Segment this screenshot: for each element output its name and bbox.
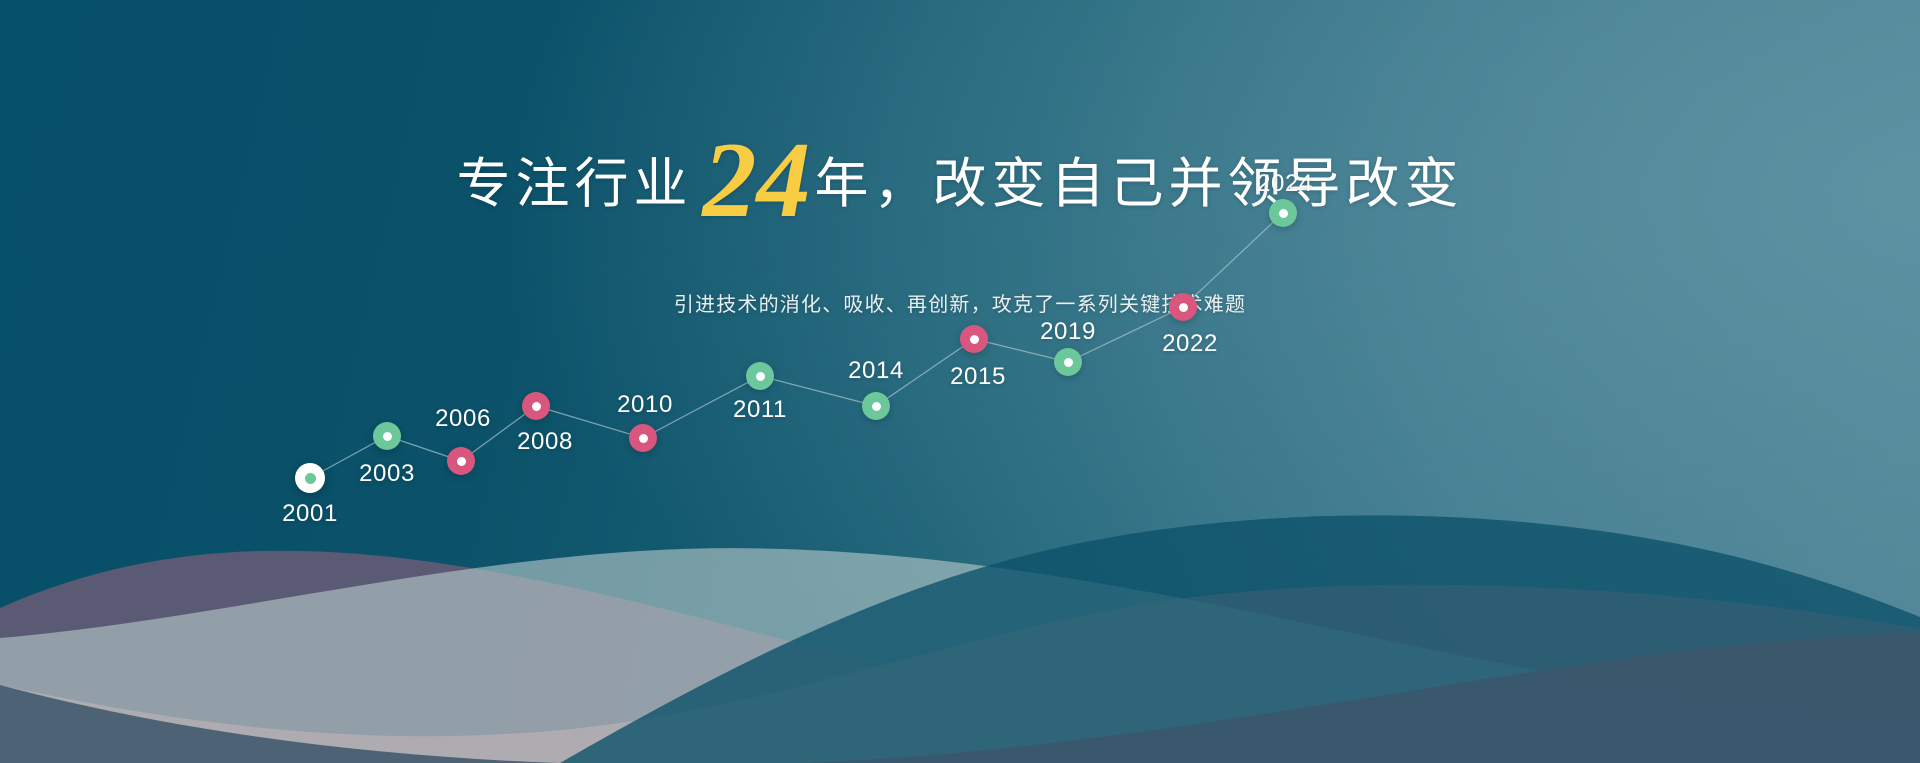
timeline-label-2003[interactable]: 2003 (359, 460, 415, 488)
hero-banner: 专注行业24年，改变自己并领导改变 引进技术的消化、吸收、再创新，攻克了一系列关… (0, 0, 1920, 763)
timeline-label-2001[interactable]: 2001 (282, 500, 338, 528)
timeline-node-2015[interactable] (960, 325, 988, 353)
timeline-label-2010[interactable]: 2010 (617, 391, 673, 419)
timeline-node-2014[interactable] (862, 392, 890, 420)
timeline-node-2019[interactable] (1054, 348, 1082, 376)
milestone-timeline: 2001200320062008201020112014201520192022… (0, 0, 1920, 763)
timeline-node-2001[interactable] (295, 463, 325, 493)
node-center-dot (457, 457, 466, 466)
node-center-dot (383, 432, 392, 441)
connector-line (1183, 213, 1283, 307)
timeline-label-2006[interactable]: 2006 (435, 405, 491, 433)
timeline-node-2010[interactable] (629, 424, 657, 452)
node-center-dot (756, 372, 765, 381)
node-center-dot (872, 402, 881, 411)
node-center-dot (639, 434, 648, 443)
timeline-node-2024[interactable] (1269, 199, 1297, 227)
node-center-dot (1179, 303, 1188, 312)
timeline-node-2006[interactable] (447, 447, 475, 475)
node-center-dot (1279, 209, 1288, 218)
timeline-node-2003[interactable] (373, 422, 401, 450)
timeline-label-2024[interactable]: 2024 (1257, 170, 1313, 198)
timeline-label-2022[interactable]: 2022 (1162, 330, 1218, 358)
timeline-label-2011[interactable]: 2011 (733, 396, 787, 424)
timeline-node-2022[interactable] (1169, 293, 1197, 321)
node-center-dot (305, 473, 316, 484)
timeline-node-2011[interactable] (746, 362, 774, 390)
node-center-dot (970, 335, 979, 344)
node-center-dot (532, 402, 541, 411)
node-center-dot (1064, 358, 1073, 367)
timeline-label-2014[interactable]: 2014 (848, 357, 904, 385)
timeline-label-2008[interactable]: 2008 (517, 428, 573, 456)
timeline-node-2008[interactable] (522, 392, 550, 420)
timeline-label-2015[interactable]: 2015 (950, 363, 1006, 391)
timeline-label-2019[interactable]: 2019 (1040, 318, 1096, 346)
